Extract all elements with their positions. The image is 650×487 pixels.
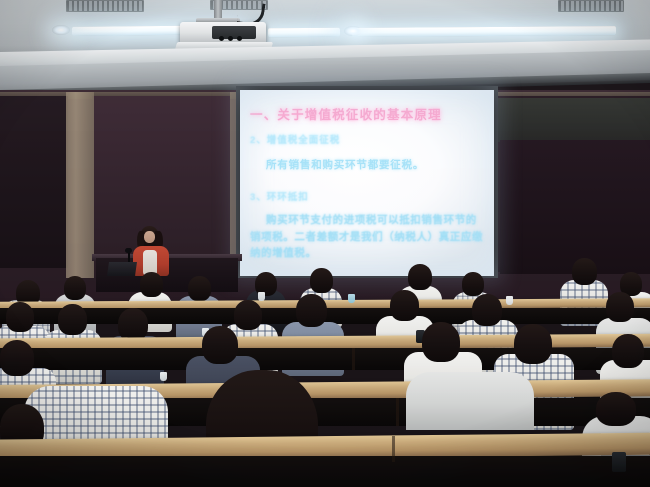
presentation-slide: 一、关于增值税征收的基本原理 2、增值税全面征税 所有销售和购买环节都要征税。 …: [240, 90, 494, 276]
air-vent-icon: [66, 0, 144, 12]
paper-cup: [160, 372, 167, 381]
microphone-icon: [125, 248, 132, 253]
desk-seam: [396, 398, 399, 426]
ceiling-spotlight: [52, 25, 70, 35]
slide-title: 一、关于增值税征收的基本原理: [250, 104, 486, 123]
slide-body-2: 购买环节支付的进项税可以抵扣销售环节的销项税。二者差额才是我们（纳税人）真正应缴…: [250, 212, 486, 262]
wall-panel-dark: [500, 140, 650, 274]
ceiling-spotlight: [344, 26, 362, 36]
lecture-hall-photo: 一、关于增值税征收的基本原理 2、增值税全面征税 所有销售和购买环节都要征税。 …: [0, 0, 650, 487]
wall-panel: [0, 96, 68, 268]
desk-front-panel: [0, 456, 650, 487]
presenter-face: [144, 231, 155, 243]
projector-lens-icon: [219, 36, 224, 41]
slide-subheading-2: 2、增值税全面征税: [250, 132, 486, 146]
fluorescent-light: [268, 28, 340, 38]
wall-pillar: [66, 92, 94, 278]
desk-seam: [392, 436, 395, 462]
projection-screen: 一、关于增值税征收的基本原理 2、增值税全面征税 所有销售和购买环节都要征税。 …: [240, 90, 494, 276]
mobile-phone: [612, 452, 626, 472]
podium-laptop: [107, 262, 137, 276]
wall-board: [498, 98, 650, 142]
projector-lens-icon: [237, 36, 242, 41]
desk-seam: [352, 348, 355, 370]
slide-body-1: 所有销售和购买环节都要征税。: [266, 157, 486, 174]
paper-cup: [506, 296, 513, 305]
air-vent-icon: [558, 0, 624, 12]
paper-cup: [258, 292, 265, 301]
slide-subheading-3: 3、环环抵扣: [250, 189, 486, 203]
paper-cup: [348, 294, 355, 303]
projector-lens-icon: [228, 36, 233, 41]
fluorescent-light: [352, 26, 616, 37]
